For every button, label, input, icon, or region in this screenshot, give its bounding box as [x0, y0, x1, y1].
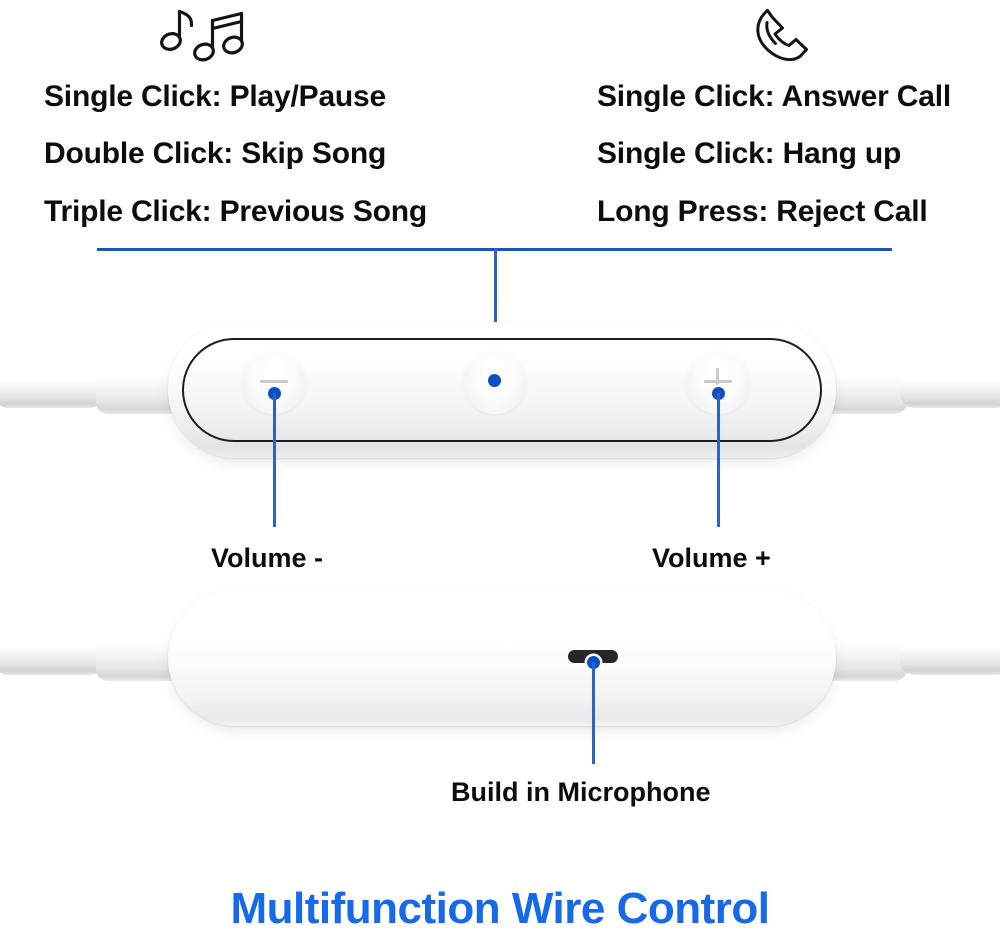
page-title: Multifunction Wire Control	[0, 884, 1000, 933]
volume-down-label: Volume -	[211, 545, 323, 572]
mic-cable-right-thin	[900, 641, 1000, 675]
music-line-3: Triple Click: Previous Song	[44, 197, 427, 227]
music-line-2: Double Click: Skip Song	[44, 139, 386, 169]
microphone-leader-line	[592, 662, 595, 764]
cable-left-thin	[0, 374, 104, 408]
multifunction-callout-dot	[488, 374, 501, 387]
telephone-handset-icon	[744, 4, 824, 66]
music-notes-icon	[152, 4, 248, 64]
volume-up-label: Volume +	[652, 545, 771, 572]
mic-cable-left-thin	[0, 641, 104, 675]
infographic-canvas: Single Click: Play/Pause Double Click: S…	[0, 0, 1000, 933]
volume-up-leader-line	[717, 393, 720, 527]
call-line-3: Long Press: Reject Call	[597, 197, 928, 227]
call-line-2: Single Click: Hang up	[597, 139, 901, 169]
call-line-1: Single Click: Answer Call	[597, 82, 951, 112]
music-line-1: Single Click: Play/Pause	[44, 82, 386, 112]
minus-glyph	[260, 380, 288, 383]
microphone-module	[168, 590, 836, 726]
volume-down-leader-line	[273, 393, 276, 527]
cable-right-thin	[900, 374, 1000, 408]
microphone-label: Build in Microphone	[451, 779, 710, 806]
